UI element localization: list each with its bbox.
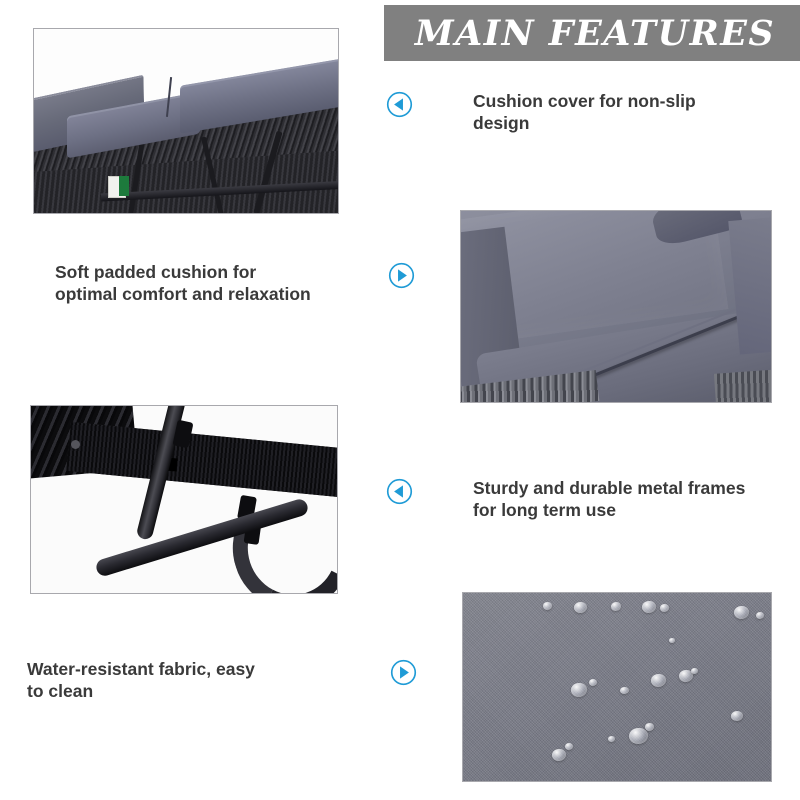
page-title: MAIN FEATURES	[409, 16, 775, 51]
metal-frame-closeup-photo	[30, 405, 338, 594]
water-beading-fabric-photo	[462, 592, 772, 782]
feature-label: Soft padded cushion for optimal comfort …	[55, 261, 311, 306]
photo-artwork	[31, 406, 337, 593]
feature-label: Sturdy and durable metal frames for long…	[473, 477, 745, 522]
reclining-cushion-frame-photo	[33, 28, 339, 214]
water-droplet	[645, 723, 654, 731]
photo-artwork	[463, 593, 771, 781]
chevron-right-circle-icon[interactable]	[390, 659, 417, 686]
frame-bolt	[71, 440, 80, 449]
feature-item-cushion-cover: Cushion cover for non-slip design	[386, 90, 786, 135]
feature-label: Water-resistant fabric, easy to clean	[27, 658, 255, 703]
photo-artwork	[34, 29, 338, 213]
chevron-right-circle-icon[interactable]	[388, 262, 415, 289]
water-droplet	[642, 601, 656, 613]
water-droplet	[608, 736, 615, 742]
fabric-texture	[463, 593, 771, 781]
feature-item-metal-frames: Sturdy and durable metal frames for long…	[386, 477, 786, 522]
rattan-base-right	[714, 369, 772, 403]
chevron-left-circle-icon[interactable]	[386, 478, 413, 505]
product-hang-tag-green	[119, 176, 129, 196]
feature-item-soft-padded-cushion: Soft padded cushion for optimal comfort …	[55, 261, 415, 306]
chevron-left-circle-icon[interactable]	[386, 91, 413, 118]
main-features-header-banner: MAIN FEATURES	[384, 5, 800, 61]
water-droplet	[756, 612, 764, 619]
feature-item-water-resistant-fabric: Water-resistant fabric, easy to clean	[27, 658, 417, 703]
photo-artwork	[461, 211, 771, 402]
feature-label: Cushion cover for non-slip design	[473, 90, 696, 135]
padded-cushion-closeup-photo	[460, 210, 772, 403]
water-droplet	[651, 674, 666, 687]
